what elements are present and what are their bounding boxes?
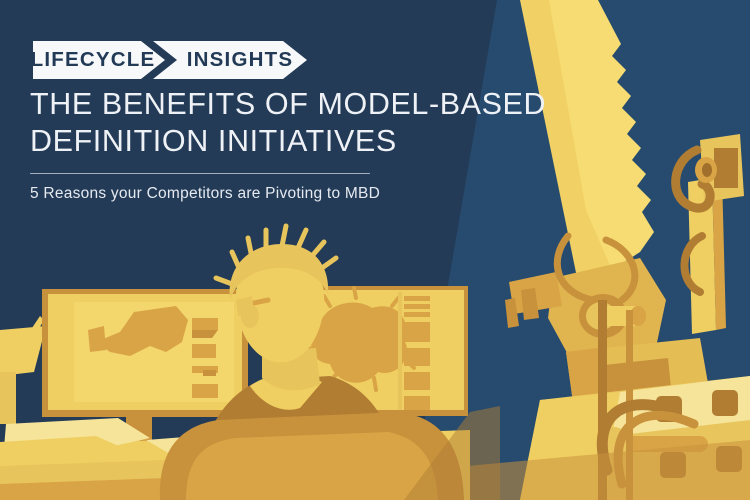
- headline-line-2: DEFINITION INITIATIVES: [30, 123, 510, 160]
- brand-logo[interactable]: LIFECYCLE INSIGHTS: [33, 41, 307, 79]
- logo-block-insights: INSIGHTS: [153, 41, 307, 79]
- headline-subtitle: 5 Reasons your Competitors are Pivoting …: [30, 185, 510, 203]
- logo-block-lifecycle: LIFECYCLE: [33, 41, 165, 79]
- logo-text-lifecycle: LIFECYCLE: [31, 50, 156, 71]
- logo-text-insights: INSIGHTS: [187, 50, 293, 71]
- headline-divider: [30, 173, 370, 174]
- desk-lamp: [0, 316, 46, 424]
- headline-line-1: THE BENEFITS OF MODEL-BASED: [30, 86, 510, 123]
- headline-group: THE BENEFITS OF MODEL-BASED DEFINITION I…: [30, 86, 510, 203]
- infographic-hero: LIFECYCLE INSIGHTS THE BENEFITS OF MODEL…: [0, 0, 750, 500]
